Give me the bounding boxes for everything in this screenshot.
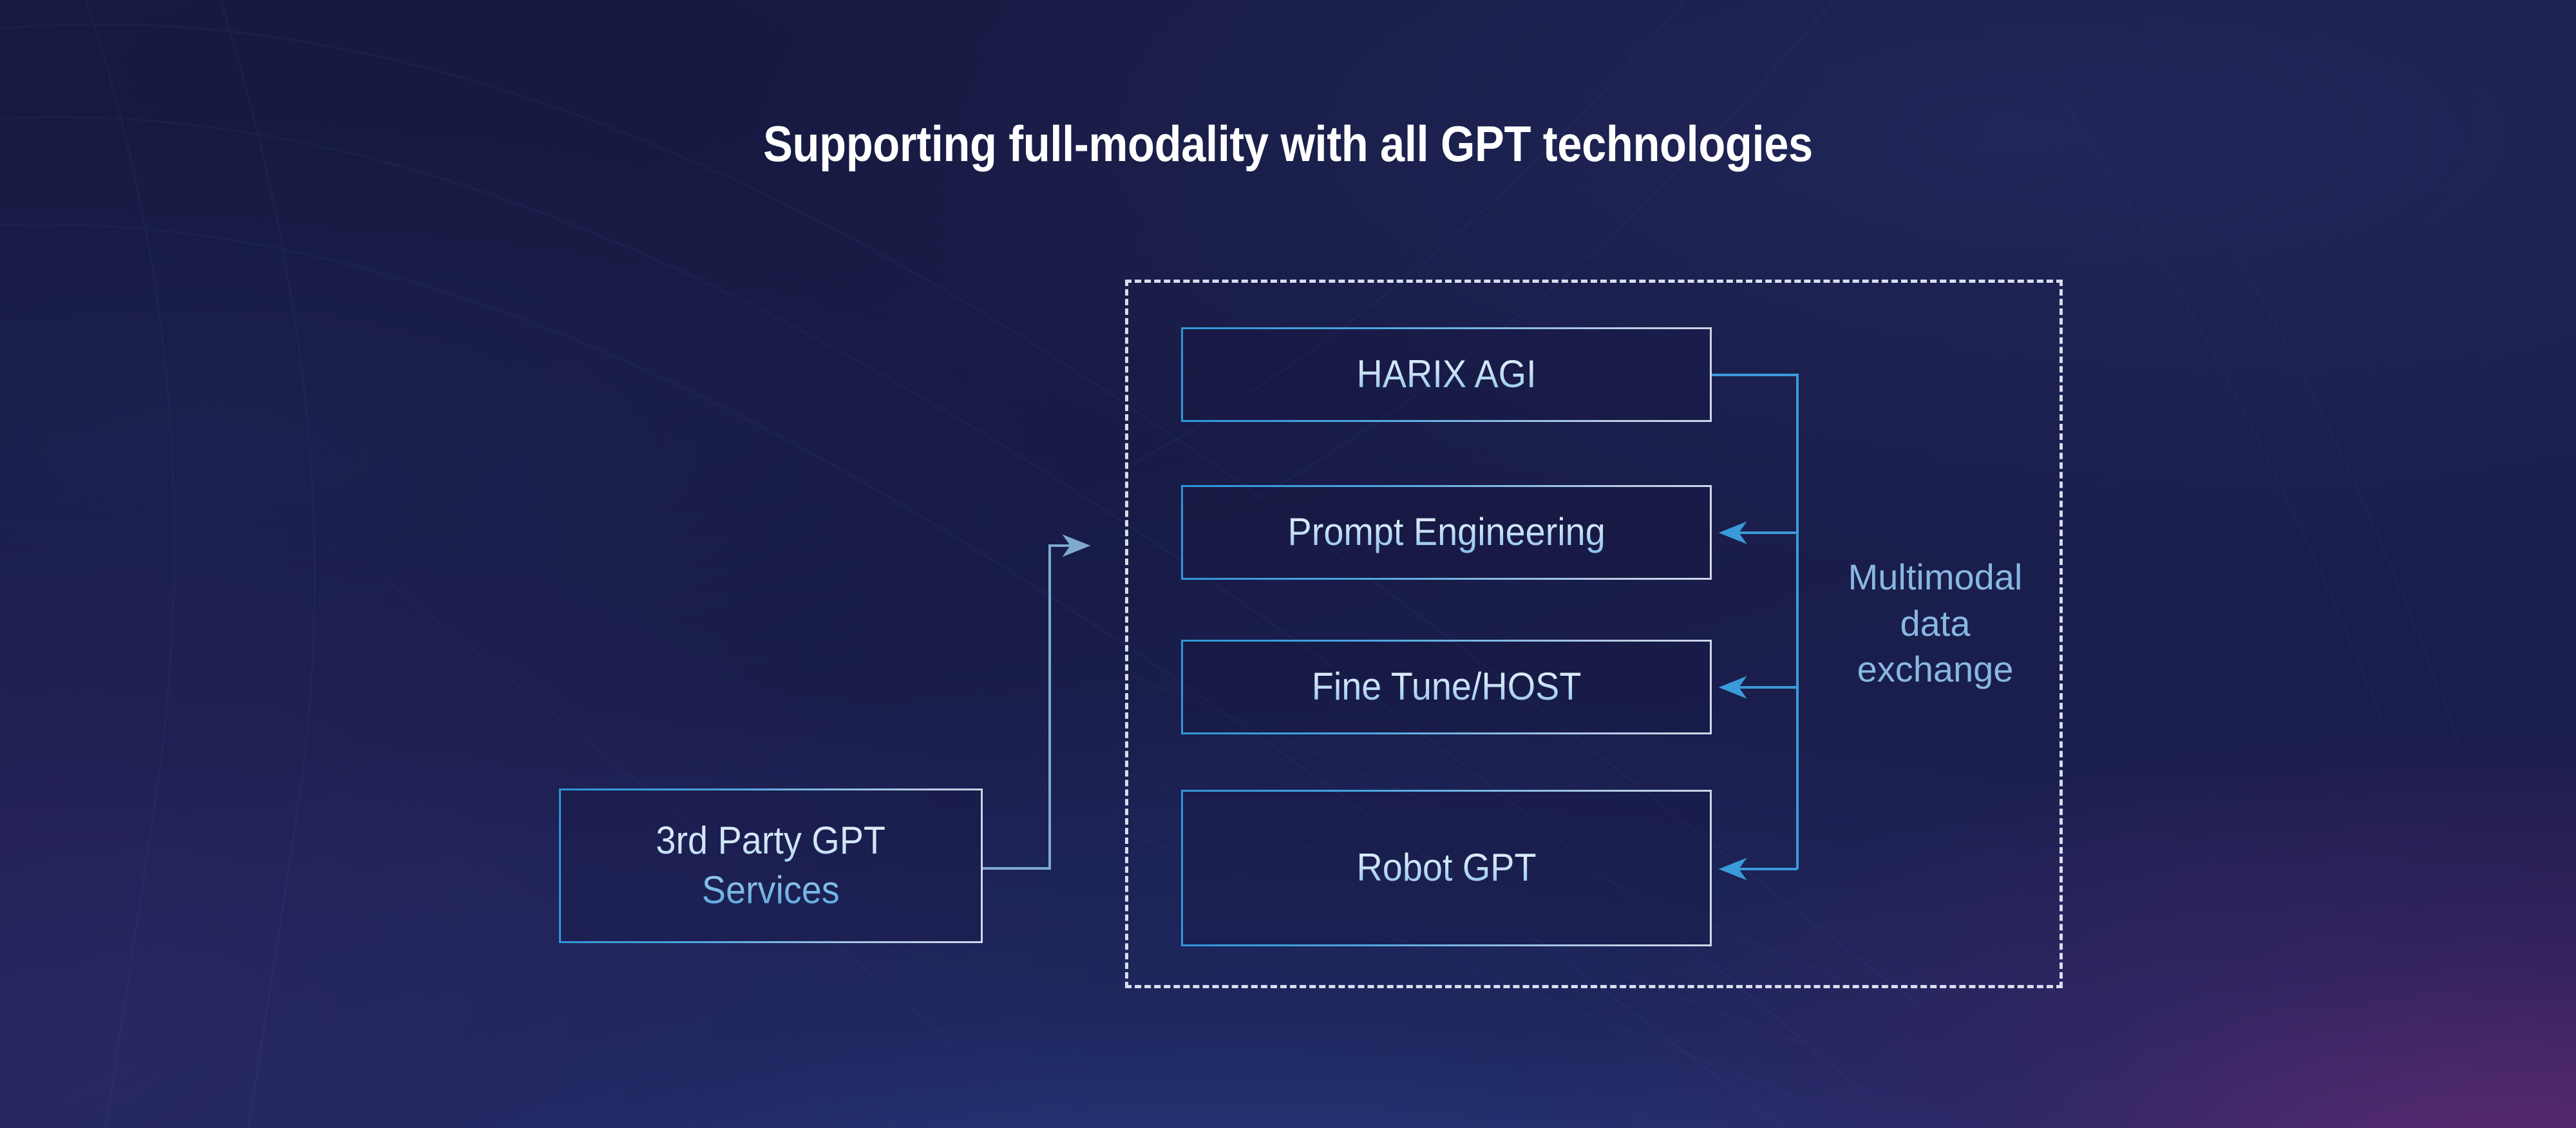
node-fine-tune-host-label: Fine Tune/HOST (1312, 664, 1582, 710)
node-prompt-engineering[interactable]: Prompt Engineering (1181, 485, 1712, 580)
node-third-party-gpt-services[interactable]: 3rd Party GPT Services (559, 789, 983, 943)
node-robot-gpt[interactable]: Robot GPT (1181, 790, 1712, 946)
node-harix-agi-label: HARIX AGI (1356, 352, 1536, 397)
page-title: Supporting full-modality with all GPT te… (155, 115, 2421, 173)
node-robot-gpt-label: Robot GPT (1356, 845, 1536, 891)
node-harix-agi[interactable]: HARIX AGI (1181, 327, 1712, 422)
multimodal-data-exchange-label: Multimodal data exchange (1819, 554, 2051, 693)
node-third-party-gpt-services-label: 3rd Party GPT Services (656, 816, 886, 915)
slide-canvas: Supporting full-modality with all GPT te… (0, 0, 2576, 1128)
node-fine-tune-host[interactable]: Fine Tune/HOST (1181, 640, 1712, 734)
node-prompt-engineering-label: Prompt Engineering (1287, 510, 1605, 555)
